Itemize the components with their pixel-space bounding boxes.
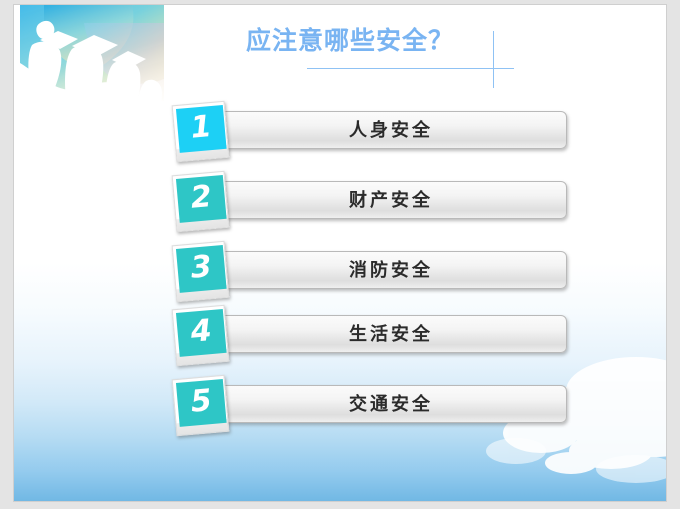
item-label: 人身安全 bbox=[213, 112, 566, 150]
item-number-badge: 3 bbox=[172, 241, 230, 302]
item-bar[interactable]: 人身安全 bbox=[212, 111, 567, 149]
item-number-badge: 1 bbox=[172, 101, 230, 162]
item-number-badge: 4 bbox=[172, 305, 230, 366]
list-item[interactable]: 交通安全 5 bbox=[164, 377, 574, 435]
item-number-badge: 5 bbox=[172, 375, 230, 436]
badge-number: 1 bbox=[189, 112, 212, 144]
item-bar[interactable]: 消防安全 bbox=[212, 251, 567, 289]
badge-number: 3 bbox=[189, 252, 212, 284]
item-number-badge: 2 bbox=[172, 171, 230, 232]
badge-fill: 2 bbox=[176, 175, 227, 223]
list-item[interactable]: 消防安全 3 bbox=[164, 243, 574, 301]
safety-item-list: 人身安全 1 财产安全 2 消防安全 bbox=[14, 5, 666, 501]
badge-fill: 4 bbox=[176, 309, 227, 357]
item-label: 生活安全 bbox=[213, 316, 566, 354]
list-item[interactable]: 生活安全 4 bbox=[164, 307, 574, 365]
item-bar[interactable]: 交通安全 bbox=[212, 385, 567, 423]
badge-fill: 3 bbox=[176, 245, 227, 293]
item-bar[interactable]: 财产安全 bbox=[212, 181, 567, 219]
badge-number: 4 bbox=[189, 316, 212, 348]
slide-canvas: 应注意哪些安全？ 人身安全 1 财产安全 2 bbox=[14, 5, 666, 501]
list-item[interactable]: 人身安全 1 bbox=[164, 103, 574, 161]
item-label: 财产安全 bbox=[213, 182, 566, 220]
item-label: 交通安全 bbox=[213, 386, 566, 424]
badge-fill: 5 bbox=[176, 379, 227, 427]
item-label: 消防安全 bbox=[213, 252, 566, 290]
item-bar[interactable]: 生活安全 bbox=[212, 315, 567, 353]
badge-number: 5 bbox=[189, 386, 212, 418]
list-item[interactable]: 财产安全 2 bbox=[164, 173, 574, 231]
badge-fill: 1 bbox=[176, 105, 227, 153]
badge-number: 2 bbox=[189, 182, 212, 214]
